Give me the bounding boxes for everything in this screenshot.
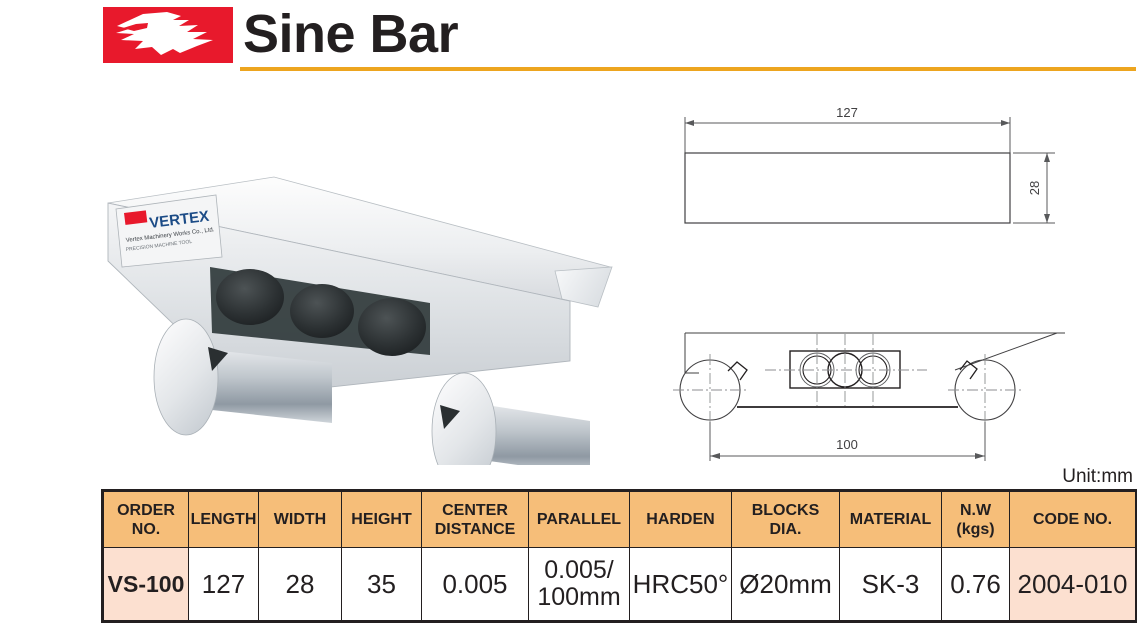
col-header-material: MATERIAL <box>840 491 942 548</box>
cell-parallel: 0.005/ 100mm <box>529 548 630 622</box>
col-header-code-no: CODE NO. <box>1010 491 1137 548</box>
cell-length: 127 <box>189 548 259 622</box>
cell-blocks-dia: Ø20mm <box>732 548 840 622</box>
header-line-2: NO. <box>104 520 188 539</box>
cell-material: SK-3 <box>840 548 942 622</box>
cell-parallel-line-2: 100mm <box>529 584 629 611</box>
dim-length-label: 127 <box>836 105 858 120</box>
vertex-eagle-logo-icon <box>103 7 233 63</box>
table-row: VS-100 127 28 35 0.005 0.005/ 100mm HRC5… <box>103 548 1137 622</box>
technical-drawing-side-view: 100 <box>665 318 1085 473</box>
page-header: Sine Bar <box>0 0 1137 80</box>
product-photo: VERTEX Vertex Machinery Works Co., Ltd. … <box>100 175 630 465</box>
header-line-1: BLOCKS <box>732 501 839 520</box>
cell-parallel-line-1: 0.005/ <box>529 557 629 584</box>
col-header-length: LENGTH <box>189 491 259 548</box>
title-underline-rule <box>240 67 1136 71</box>
header-line-2: (kgs) <box>942 520 1009 539</box>
col-header-blocks-dia: BLOCKS DIA. <box>732 491 840 548</box>
cell-harden: HRC50° <box>630 548 732 622</box>
unit-note: Unit:mm <box>1062 466 1133 488</box>
cell-center-distance: 0.005 <box>422 548 529 622</box>
header-line-2: DISTANCE <box>422 520 528 539</box>
cell-height: 35 <box>342 548 422 622</box>
header-line-1: ORDER <box>104 501 188 520</box>
cell-order-no: VS-100 <box>103 548 189 622</box>
technical-drawing-top-view: 127 28 <box>665 95 1075 255</box>
specification-table: ORDER NO. LENGTH WIDTH HEIGHT CENTER DIS… <box>101 489 1137 623</box>
spec-table-container: ORDER NO. LENGTH WIDTH HEIGHT CENTER DIS… <box>101 489 1135 623</box>
col-header-center-distance: CENTER DISTANCE <box>422 491 529 548</box>
dim-height-label: 28 <box>1027 181 1042 195</box>
cell-width: 28 <box>259 548 342 622</box>
header-line-2: DIA. <box>732 520 839 539</box>
table-header-row: ORDER NO. LENGTH WIDTH HEIGHT CENTER DIS… <box>103 491 1137 548</box>
cell-code-no: 2004-010 <box>1010 548 1137 622</box>
col-header-nw: N.W (kgs) <box>942 491 1010 548</box>
cell-nw: 0.76 <box>942 548 1010 622</box>
dim-center-distance-label: 100 <box>836 437 858 452</box>
col-header-width: WIDTH <box>259 491 342 548</box>
col-header-height: HEIGHT <box>342 491 422 548</box>
header-line-1: CENTER <box>422 501 528 520</box>
header-line-1: N.W <box>942 501 1009 520</box>
page-title: Sine Bar <box>243 4 458 64</box>
col-header-parallel: PARALLEL <box>529 491 630 548</box>
col-header-harden: HARDEN <box>630 491 732 548</box>
col-header-order-no: ORDER NO. <box>103 491 189 548</box>
